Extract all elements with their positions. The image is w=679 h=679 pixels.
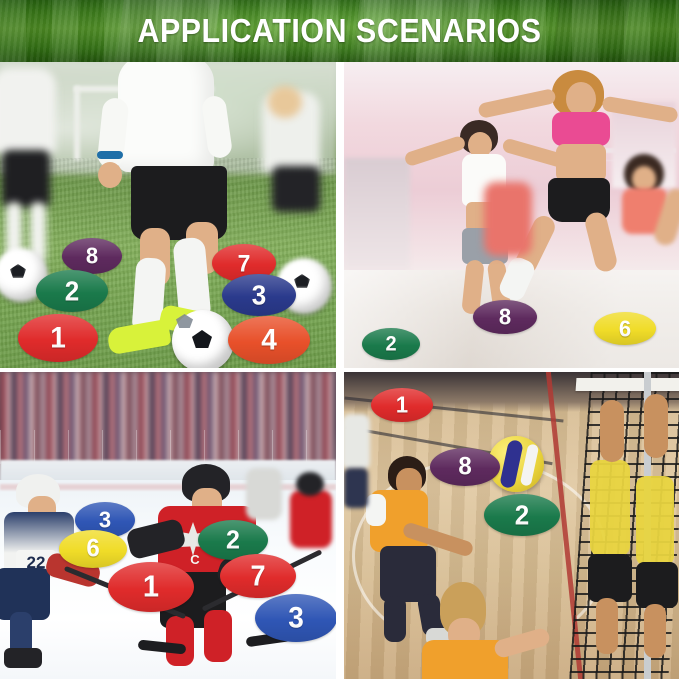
marker-dot-label: 1	[50, 323, 66, 352]
marker-dot-2: 2	[362, 328, 420, 360]
marker-dot-label: 6	[86, 536, 99, 561]
marker-dot-2: 2	[484, 494, 560, 536]
opponent-leg-left	[596, 598, 618, 654]
background-official	[246, 468, 282, 520]
marker-dot-1: 1	[108, 562, 194, 612]
main-player-shirt	[118, 62, 214, 172]
marker-dot-label: 1	[396, 393, 408, 416]
background-player-left-shorts	[2, 150, 50, 208]
marker-dot-label: 4	[261, 325, 277, 354]
panel-volleyball: 182	[344, 372, 679, 679]
background-player-right-head	[268, 86, 302, 118]
marker-dot-7: 7	[220, 554, 296, 598]
net-top-tape	[576, 378, 679, 391]
marker-dot-4: 4	[228, 316, 310, 364]
opponent-arm-left	[600, 400, 624, 462]
background-canada-player	[290, 490, 332, 548]
page-title: APPLICATION SCENARIOS	[27, 11, 652, 51]
marker-dot-3: 3	[255, 594, 336, 642]
goalpost-left	[74, 86, 80, 160]
opponent-shorts-right	[636, 562, 678, 608]
marker-dot-1: 1	[18, 314, 98, 362]
player-front-sleeve	[366, 494, 386, 526]
marker-dot-8: 8	[430, 448, 500, 486]
marker-dot-label: 1	[143, 572, 159, 602]
scenario-grid: 821734	[0, 62, 679, 679]
opponent-leg-right	[644, 604, 666, 658]
marker-dot-8: 8	[62, 238, 122, 274]
rink-glass	[0, 430, 336, 464]
marker-dot-label: 7	[238, 251, 251, 275]
background-dancer	[484, 182, 532, 256]
jumper-face	[566, 82, 596, 116]
opponent-arm-right	[644, 394, 668, 458]
marker-dot-6: 6	[594, 312, 656, 345]
jumper-midriff	[556, 144, 606, 182]
marker-dot-1: 1	[371, 388, 433, 422]
background-player-left	[0, 68, 56, 154]
opponent-jersey-right	[636, 476, 674, 566]
marker-dot-label: 3	[99, 508, 111, 531]
marker-dot-label: 8	[499, 305, 511, 328]
background-player-volleyball	[344, 414, 370, 470]
marker-dot-6: 6	[59, 530, 127, 568]
studio-mirror	[344, 158, 410, 270]
background-player-right-shorts	[272, 166, 320, 212]
background-player-volleyball-shorts	[344, 468, 368, 508]
marker-dot-3: 3	[222, 274, 296, 316]
marker-dot-label: 2	[515, 501, 529, 528]
marker-dot-label: 8	[86, 244, 98, 267]
opponent-shorts-left	[588, 554, 632, 602]
marker-dot-label: 3	[252, 281, 266, 308]
jumper-sports-bra	[552, 112, 610, 146]
main-player-hand-left	[98, 162, 122, 188]
marker-dot-label: 8	[458, 454, 471, 479]
opponent-jersey-left	[590, 460, 630, 556]
usa-player-skate	[4, 648, 42, 668]
marker-dot-label: 7	[250, 562, 265, 590]
marker-dot-2: 2	[36, 270, 108, 312]
marker-dot-label: 6	[619, 317, 631, 340]
panel-fitness-studio: 286	[344, 62, 679, 368]
canada-player-shin-right	[204, 610, 232, 662]
marker-dot-label: 2	[226, 527, 240, 553]
marker-dot-8: 8	[473, 300, 537, 334]
marker-dot-label: 2	[385, 334, 396, 355]
header-banner: APPLICATION SCENARIOS	[0, 0, 679, 62]
panel-soccer: 821734	[0, 62, 336, 368]
background-canada-helmet	[296, 472, 324, 496]
player-front-leg-left	[384, 596, 406, 642]
canada-player-shin-left	[166, 616, 194, 666]
marker-dot-label: 2	[65, 277, 79, 304]
captain-patch: C	[186, 550, 204, 570]
panel-ice-hockey: 22 87 C	[0, 372, 336, 679]
marker-dot-label: 3	[288, 603, 304, 632]
wristband	[97, 151, 123, 159]
application-scenarios-infographic: APPLICATION SCENARIOS	[0, 0, 679, 679]
